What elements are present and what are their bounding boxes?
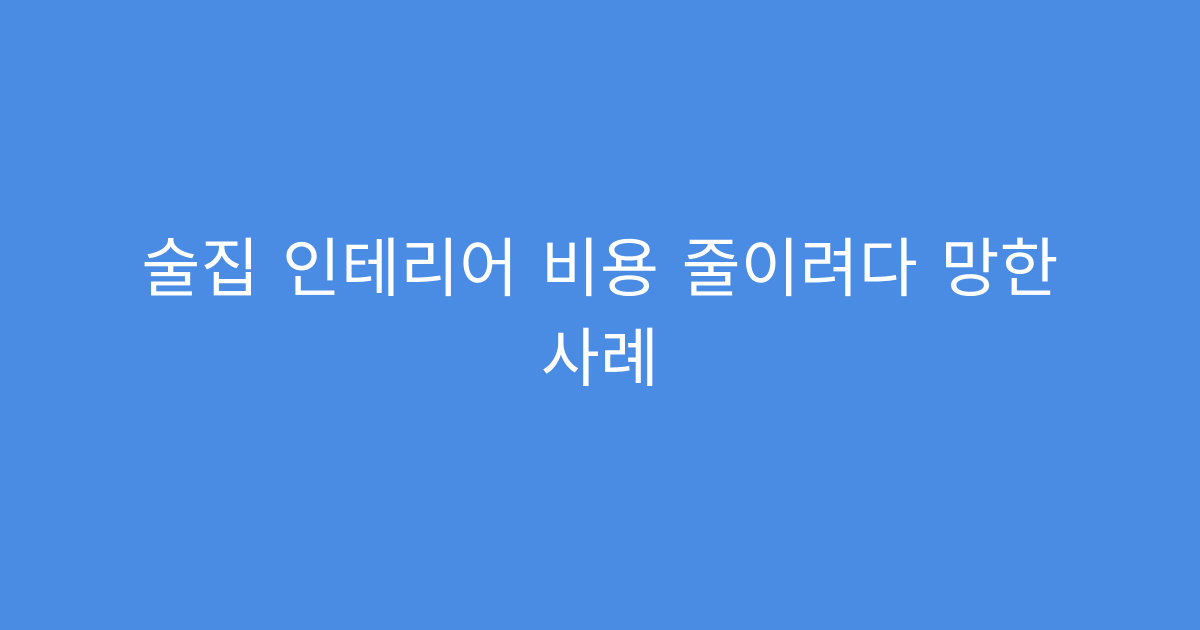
headline-block: 술집 인테리어 비용 줄이려다 망한 사례 <box>0 225 1200 405</box>
social-share-card: 술집 인테리어 비용 줄이려다 망한 사례 <box>0 0 1200 630</box>
page-title: 술집 인테리어 비용 줄이려다 망한 사례 <box>110 225 1090 405</box>
